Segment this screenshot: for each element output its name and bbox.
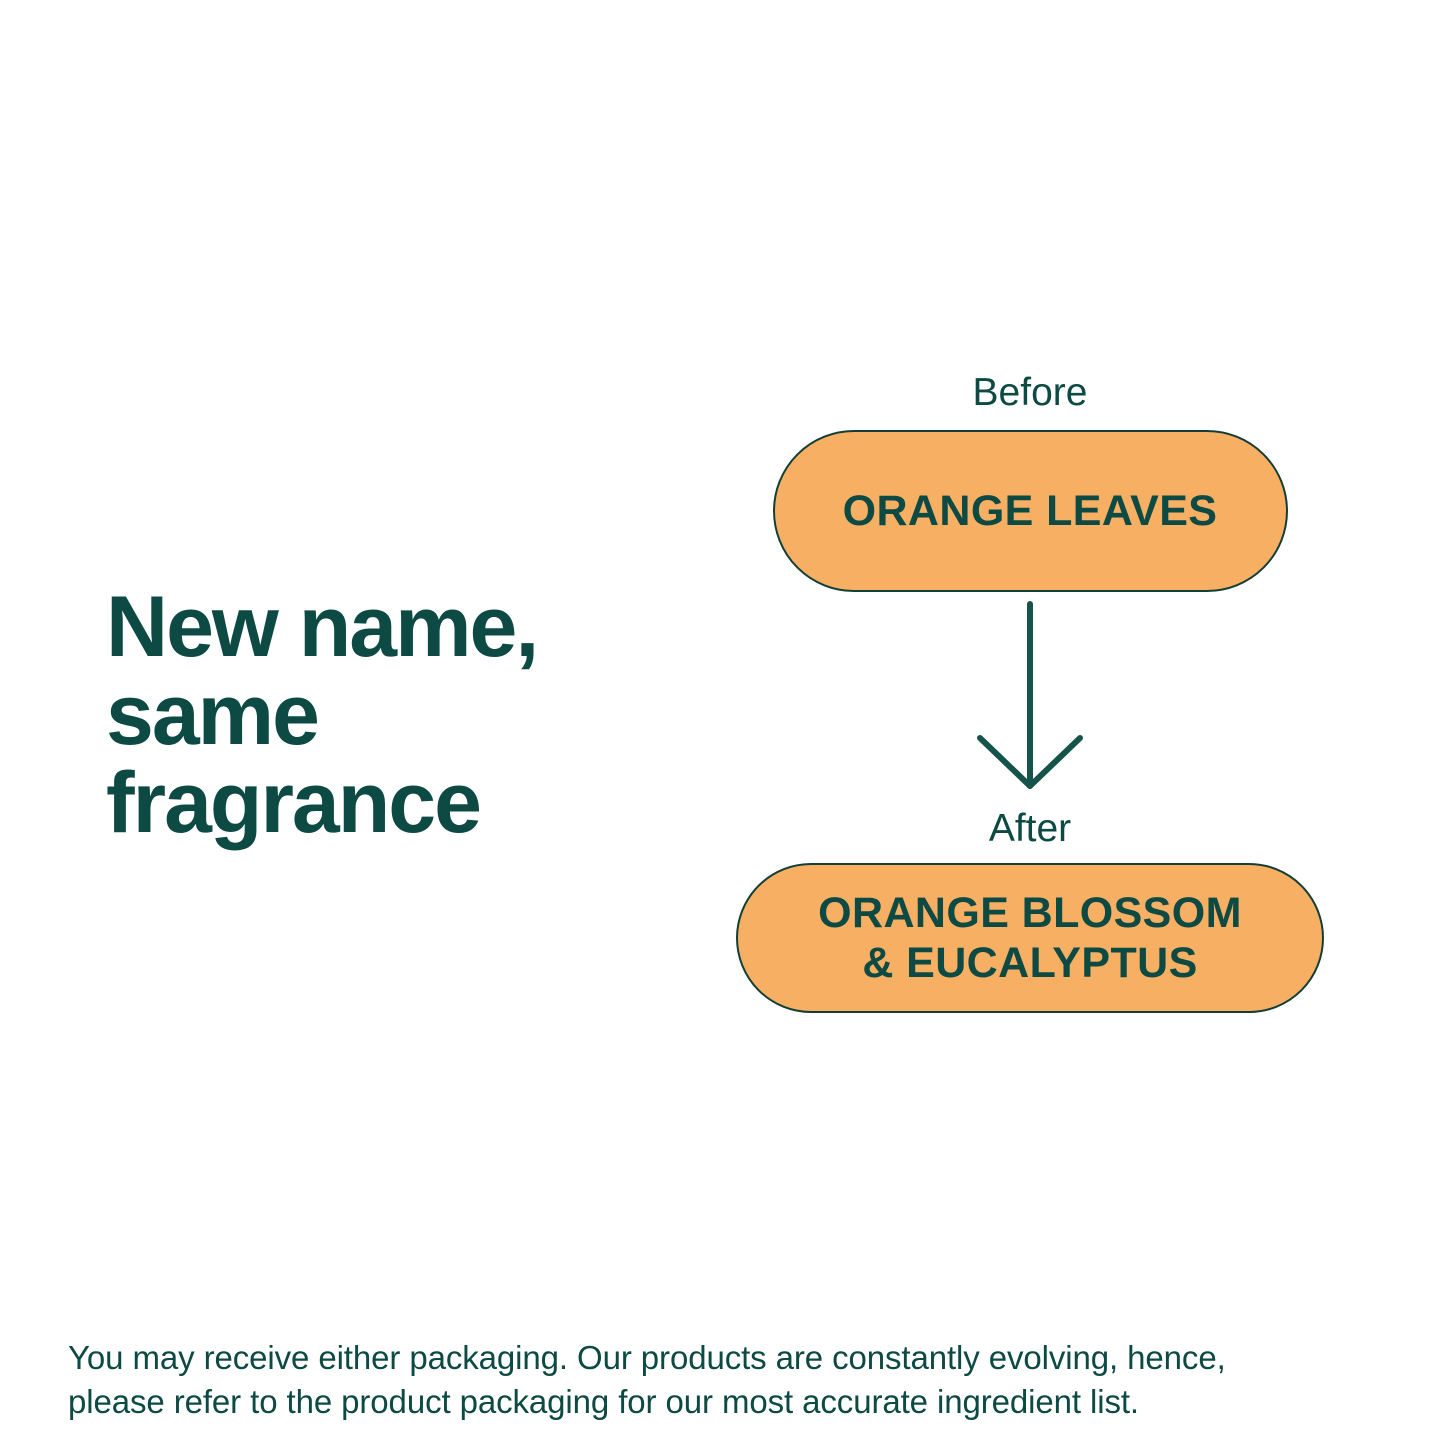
arrow-down-icon bbox=[960, 598, 1100, 798]
before-pill-row: ORANGE LEAVES bbox=[700, 416, 1360, 592]
headline-line-2: same bbox=[106, 671, 666, 759]
before-product-pill: ORANGE LEAVES bbox=[773, 430, 1288, 592]
headline-line-3: fragrance bbox=[106, 759, 666, 847]
before-product-name: ORANGE LEAVES bbox=[843, 486, 1218, 536]
after-pill-row: ORANGE BLOSSOM & EUCALYPTUS bbox=[700, 852, 1360, 1013]
page-title: New name, same fragrance bbox=[106, 583, 666, 847]
after-label: After bbox=[700, 806, 1360, 852]
arrow-down-container bbox=[700, 594, 1360, 802]
after-product-pill: ORANGE BLOSSOM & EUCALYPTUS bbox=[736, 863, 1324, 1013]
before-label: Before bbox=[700, 370, 1360, 416]
after-product-name: ORANGE BLOSSOM & EUCALYPTUS bbox=[818, 888, 1242, 988]
before-after-diagram: Before ORANGE LEAVES After ORANGE BLOSSO… bbox=[700, 370, 1360, 1050]
after-product-name-line-2: & EUCALYPTUS bbox=[818, 938, 1242, 988]
disclaimer-line-1: You may receive either packaging. Our pr… bbox=[68, 1336, 1368, 1380]
promo-canvas: New name, same fragrance Before ORANGE L… bbox=[0, 0, 1445, 1445]
after-product-name-line-1: ORANGE BLOSSOM bbox=[818, 888, 1242, 938]
headline-line-1: New name, bbox=[106, 583, 666, 671]
disclaimer-line-2: please refer to the product packaging fo… bbox=[68, 1380, 1368, 1424]
disclaimer-text: You may receive either packaging. Our pr… bbox=[68, 1336, 1368, 1424]
